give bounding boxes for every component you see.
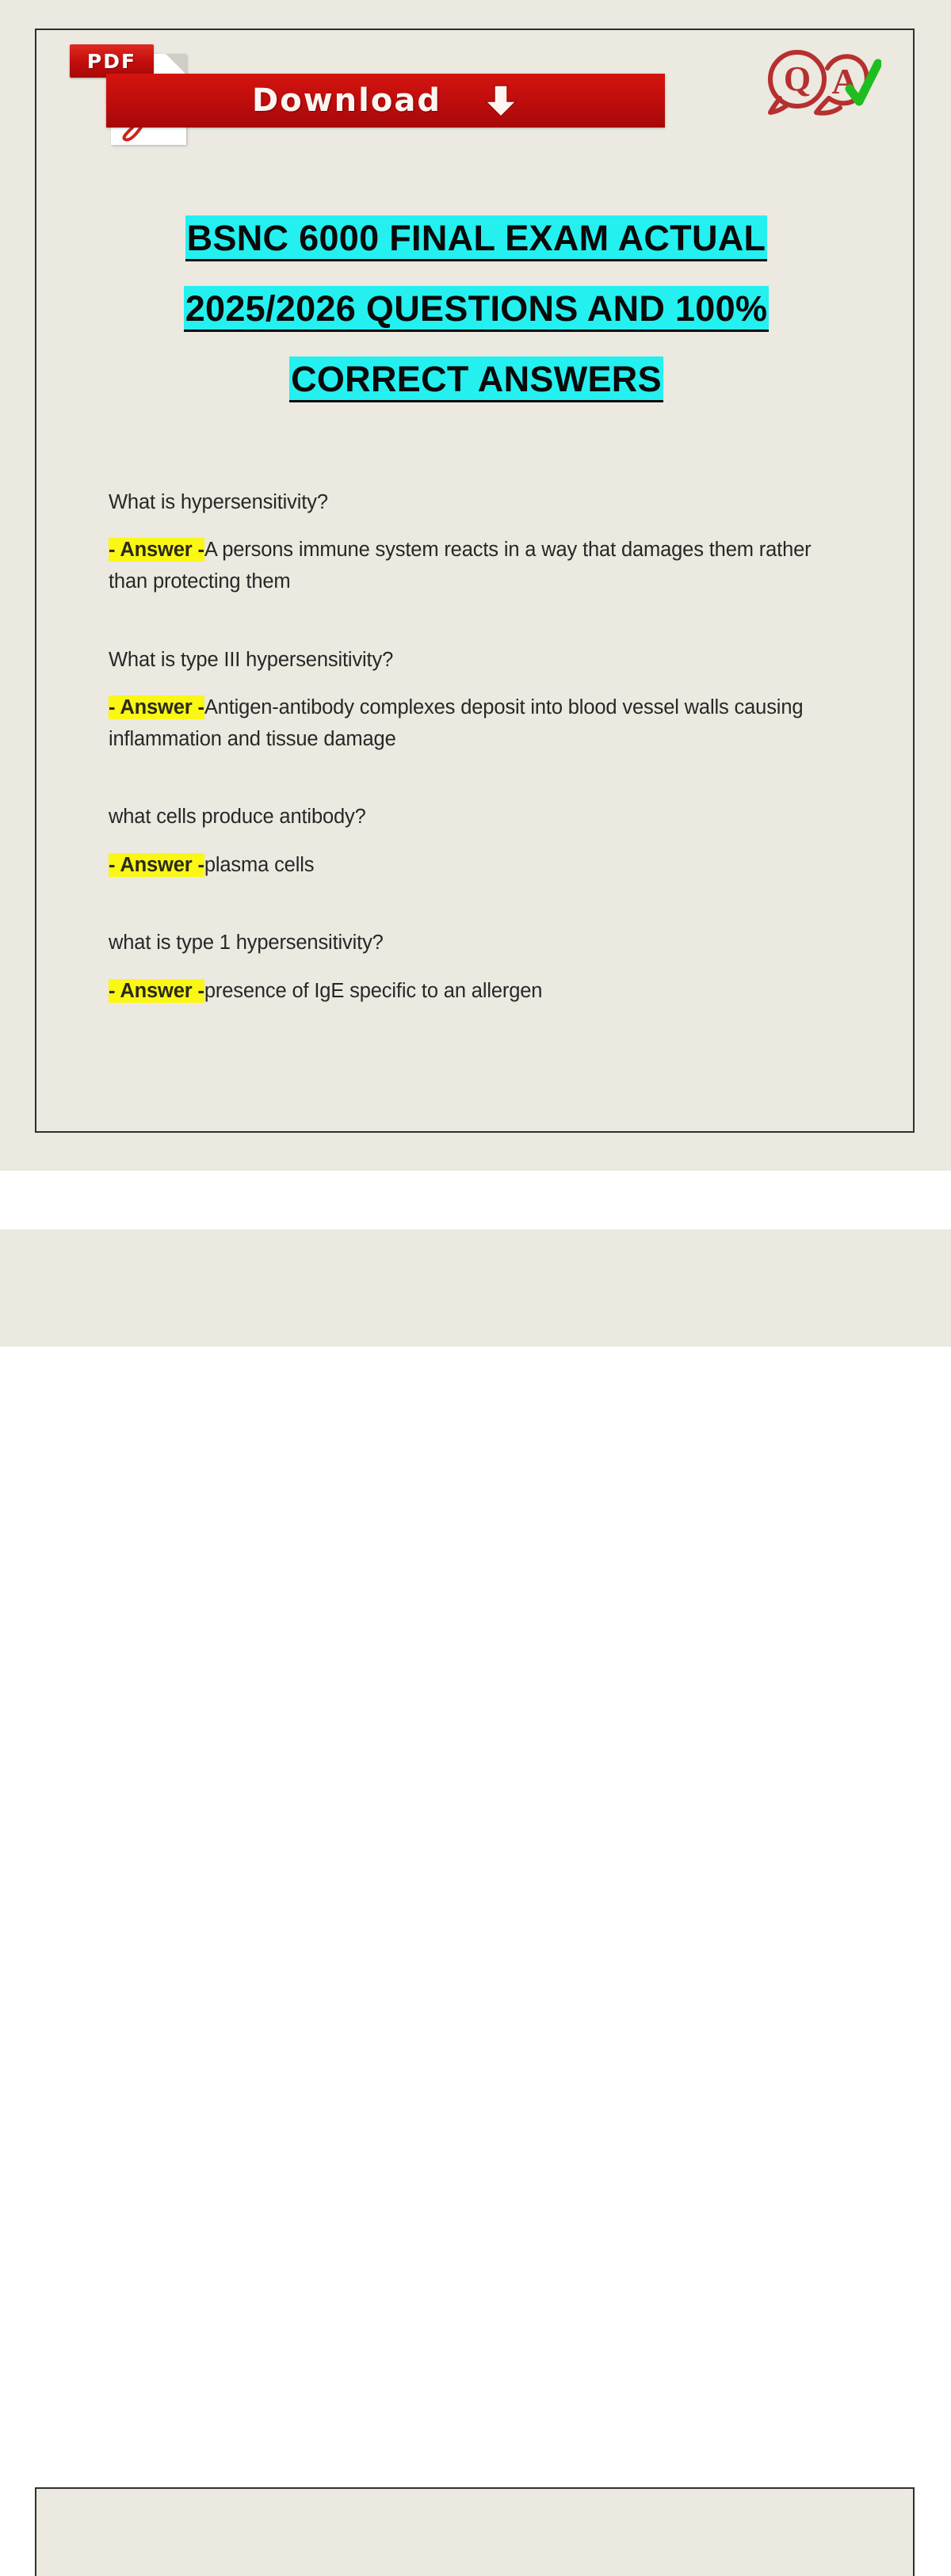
answer-tag: - Answer - (109, 538, 204, 562)
title-line-2: 2025/2026 QUESTIONS AND 100% (36, 284, 916, 333)
answer-text: presence of IgE specific to an allergen (204, 980, 543, 1002)
question-text: what cells produce antibody? (109, 802, 818, 831)
pdf-page-1: PDF Download Q A (0, 0, 951, 1171)
document-frame: PDF Download Q A (35, 29, 915, 1133)
question-text: What is type III hypersensitivity? (109, 646, 818, 674)
answer-text: plasma cells (204, 854, 315, 876)
pdf-label-tab: PDF (70, 44, 154, 78)
page-title: BSNC 6000 FINAL EXAM ACTUAL 2025/2026 QU… (36, 214, 916, 404)
pdf-page-fold-icon (166, 54, 186, 74)
download-arrow-icon (483, 82, 519, 119)
qa-item: What is hypersensitivity? - Answer -A pe… (109, 488, 818, 598)
answer-text: A persons immune system reacts in a way … (109, 539, 812, 593)
answer-line: - Answer -presence of IgE specific to an… (109, 976, 818, 1008)
title-line-1: BSNC 6000 FINAL EXAM ACTUAL (36, 214, 916, 263)
question-text: what is type 1 hypersensitivity? (109, 928, 818, 957)
answer-line: - Answer -A persons immune system reacts… (109, 535, 818, 598)
svg-text:Q: Q (784, 59, 811, 98)
download-label: Download (252, 82, 441, 119)
document-header: PDF Download Q A (36, 30, 916, 181)
title-line-1-text: BSNC 6000 FINAL EXAM ACTUAL (185, 215, 768, 261)
qa-speech-bubble-check-icon: Q A (761, 40, 881, 128)
qa-list: What is hypersensitivity? - Answer -A pe… (109, 488, 818, 1007)
answer-tag: - Answer - (109, 853, 204, 877)
question-text: What is hypersensitivity? (109, 488, 818, 516)
title-line-3: CORRECT ANSWERS (36, 355, 916, 404)
answer-tag: - Answer - (109, 695, 204, 719)
qa-item: what cells produce antibody? - Answer -p… (109, 802, 818, 881)
next-document-frame (35, 2487, 915, 2576)
page-separator (0, 1171, 951, 1229)
pdf-page-2 (0, 1229, 951, 1347)
answer-line: - Answer -Antigen-antibody complexes dep… (109, 692, 818, 756)
title-line-2-text: 2025/2026 QUESTIONS AND 100% (184, 286, 770, 332)
qa-item: What is type III hypersensitivity? - Ans… (109, 646, 818, 756)
answer-tag: - Answer - (109, 979, 204, 1003)
qa-item: what is type 1 hypersensitivity? - Answe… (109, 928, 818, 1007)
answer-text: Antigen-antibody complexes deposit into … (109, 696, 803, 750)
answer-line: - Answer -plasma cells (109, 850, 818, 882)
title-line-3-text: CORRECT ANSWERS (289, 356, 663, 402)
download-button[interactable]: Download (106, 74, 665, 128)
pdf-label-text: PDF (87, 50, 136, 73)
